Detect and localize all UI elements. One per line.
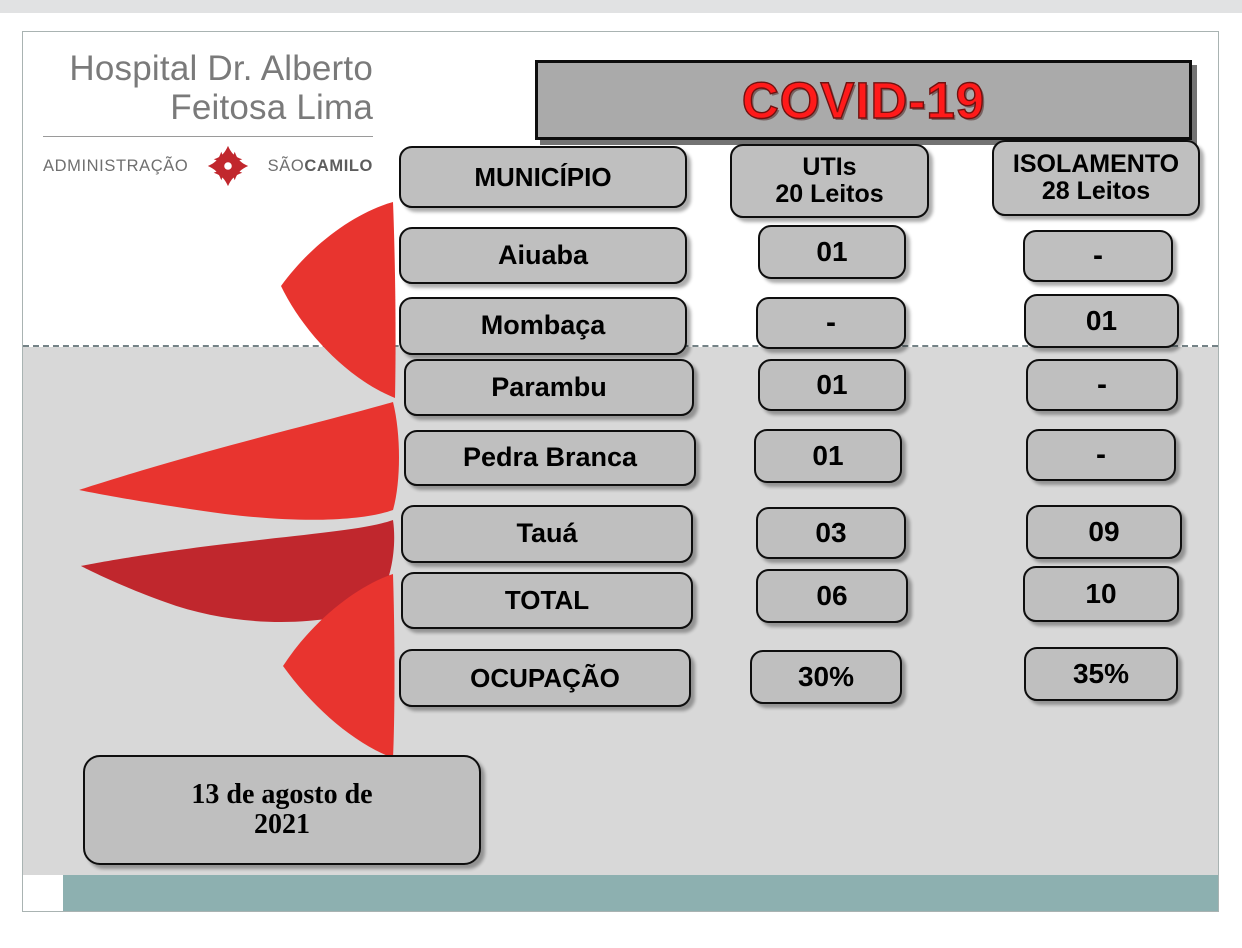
- table-row: Tauá: [401, 505, 693, 563]
- covid-banner: COVID-19: [535, 60, 1192, 140]
- table-cell-utis: 01: [758, 225, 906, 279]
- table-row: Pedra Branca: [404, 430, 696, 486]
- date-line1: 13 de agosto de: [191, 780, 372, 810]
- table-cell-utis: 03: [756, 507, 906, 559]
- table-cell-isolamento: -: [1026, 429, 1176, 481]
- administration-row: ADMINISTRAÇÃO SÃOCAMILO: [43, 145, 373, 187]
- top-chrome-strip: [0, 0, 1242, 13]
- table-row: Mombaça: [399, 297, 687, 355]
- table-row: Aiuaba: [399, 227, 687, 284]
- brand-suffix: CAMILO: [304, 157, 373, 175]
- table-cell-utis: -: [756, 297, 906, 349]
- header-utis-line1: UTIs: [802, 154, 856, 181]
- slide-frame: Hospital Dr. Alberto Feitosa Lima ADMINI…: [22, 31, 1219, 912]
- table-cell-isolamento: 35%: [1024, 647, 1178, 701]
- table-row-total: TOTAL: [401, 572, 693, 629]
- table-cell-isolamento: -: [1026, 359, 1178, 411]
- table-cell-utis: 01: [754, 429, 902, 483]
- date-box: 13 de agosto de 2021: [83, 755, 481, 865]
- header-utis-line2: 20 Leitos: [775, 181, 883, 208]
- brand-prefix: SÃO: [268, 157, 305, 175]
- table-cell-isolamento: 01: [1024, 294, 1179, 348]
- hospital-name-line1: Hospital Dr. Alberto: [43, 49, 373, 88]
- header-utis: UTIs 20 Leitos: [730, 144, 929, 218]
- logo-divider-rule: [43, 136, 373, 137]
- teal-footer-strip: [63, 875, 1218, 912]
- petal-left-upper-icon: [79, 402, 399, 520]
- header-municipio: MUNICÍPIO: [399, 146, 687, 208]
- table-cell-isolamento: 10: [1023, 566, 1179, 622]
- table-cell-isolamento: -: [1023, 230, 1173, 282]
- date-line2: 2021: [254, 810, 310, 840]
- sao-camilo-cross-icon: [207, 145, 249, 187]
- administration-label: ADMINISTRAÇÃO: [43, 157, 188, 176]
- hospital-name-line2: Feitosa Lima: [43, 88, 373, 127]
- table-cell-utis: 30%: [750, 650, 902, 704]
- table-row-ocupacao: OCUPAÇÃO: [399, 649, 691, 707]
- hospital-logo: Hospital Dr. Alberto Feitosa Lima ADMINI…: [43, 49, 373, 187]
- slide-canvas: Hospital Dr. Alberto Feitosa Lima ADMINI…: [0, 0, 1242, 948]
- table-cell-utis: 01: [758, 359, 906, 411]
- brand-name: SÃOCAMILO: [268, 157, 373, 176]
- header-isolamento-line2: 28 Leitos: [1042, 178, 1150, 205]
- table-cell-utis: 06: [756, 569, 908, 623]
- header-isolamento: ISOLAMENTO 28 Leitos: [992, 140, 1200, 216]
- flower-petals-graphic: [45, 202, 425, 762]
- table-row: Parambu: [404, 359, 694, 416]
- table-cell-isolamento: 09: [1026, 505, 1182, 559]
- covid-banner-title: COVID-19: [742, 71, 985, 130]
- petal-top-icon: [281, 202, 396, 398]
- header-isolamento-line1: ISOLAMENTO: [1013, 151, 1179, 178]
